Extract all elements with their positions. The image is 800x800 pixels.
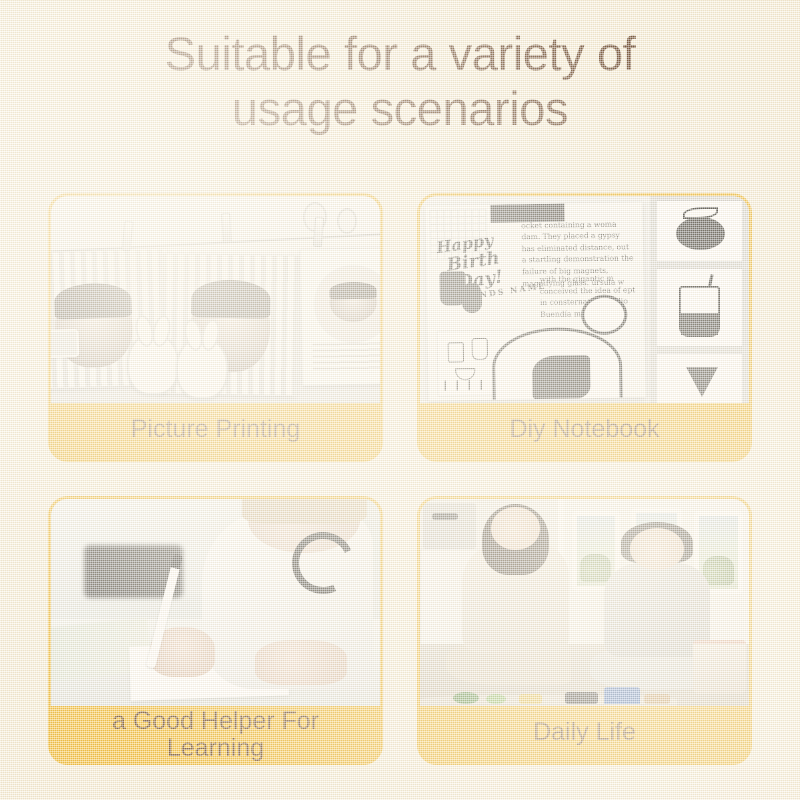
- child-face-right: [329, 281, 377, 322]
- toy-item: [453, 692, 479, 704]
- triangle-doodle-icon: [686, 367, 718, 397]
- printed-photos-scene: [51, 196, 380, 403]
- clothespin-icon: [313, 216, 324, 247]
- scenario-card-learning-helper[interactable]: a Good Helper For Learning: [48, 496, 383, 765]
- scenario-card-daily-life[interactable]: Daily Life: [417, 496, 752, 765]
- toy-item: [486, 694, 506, 704]
- scenario-card-picture-printing[interactable]: Picture Printing: [48, 193, 383, 462]
- child-hair: [191, 279, 271, 319]
- child-hair: [329, 281, 377, 299]
- diy-notebook-photo: Happy Birth Day! FRIENDS NAME ocket cont…: [420, 196, 749, 403]
- page-title-line-2: usage scenarios: [70, 81, 730, 136]
- storage-bin: [693, 640, 746, 694]
- toy-item: [644, 694, 670, 704]
- person-doodle-illustration: [491, 295, 633, 401]
- drink-art-tile: [656, 268, 743, 347]
- learning-helper-photo: [51, 499, 380, 706]
- page-title-line-1: Suitable for a variety of: [70, 26, 730, 81]
- child-head: [630, 528, 685, 570]
- picture-printing-photo: [51, 196, 380, 403]
- card-label-daily-life: Daily Life: [420, 706, 749, 762]
- child-resting-hand: [255, 640, 347, 686]
- person-doodle-arm: [532, 356, 591, 401]
- child-writing-scene: [51, 499, 380, 706]
- bottle-doodle-icon: [461, 283, 482, 313]
- printed-photo-right: [300, 247, 380, 385]
- family-playing-scene: [420, 499, 749, 706]
- card-label-diy-notebook: Diy Notebook: [420, 403, 749, 459]
- card-label-picture-printing: Picture Printing: [51, 403, 380, 459]
- notebook-scene: Happy Birth Day! FRIENDS NAME ocket cont…: [420, 196, 749, 403]
- card-label-learning-helper: a Good Helper For Learning: [51, 706, 380, 765]
- clothespin-icon: [221, 212, 232, 242]
- fruit-art-tile: [656, 200, 743, 262]
- balloon-doodle-small-icon: [337, 208, 357, 234]
- toy-item: [604, 687, 640, 704]
- child-hair: [242, 499, 367, 524]
- glass-liquid: [681, 313, 718, 334]
- notebook-page: Happy Birth Day! FRIENDS NAME ocket cont…: [425, 202, 645, 400]
- scenario-card-diy-notebook[interactable]: Happy Birth Day! FRIENDS NAME ocket cont…: [417, 193, 752, 462]
- page-title: Suitable for a variety of usage scenario…: [0, 26, 800, 137]
- mother-figure: [459, 507, 571, 685]
- bunny-sticker-icon: [127, 333, 179, 395]
- bunny-sticker-icon: [176, 337, 228, 399]
- kettle-doodle-icon: [471, 338, 487, 360]
- appliance-slot: [432, 513, 458, 520]
- circular-photo-frame: [314, 264, 380, 343]
- notebook-art-column: [650, 196, 749, 403]
- jar-doodle-icon: [447, 343, 463, 363]
- shape-art-tile: [656, 353, 743, 403]
- scenario-card-grid: Picture Printing Happy Birth Day! FRIEND…: [48, 193, 752, 765]
- daily-life-photo: [420, 499, 749, 706]
- toy-item: [519, 694, 542, 704]
- mother-head: [491, 507, 540, 550]
- person-doodle-head: [581, 295, 628, 336]
- corner-sticker: [51, 329, 79, 358]
- infographic-page: Suitable for a variety of usage scenario…: [0, 0, 800, 800]
- glass-doodle-icon: [679, 286, 720, 337]
- photo-caption-lines: [313, 342, 380, 373]
- fruit-doodle-icon: [676, 217, 725, 251]
- cup-doodle-icon: [454, 368, 474, 380]
- toy-item: [565, 692, 598, 704]
